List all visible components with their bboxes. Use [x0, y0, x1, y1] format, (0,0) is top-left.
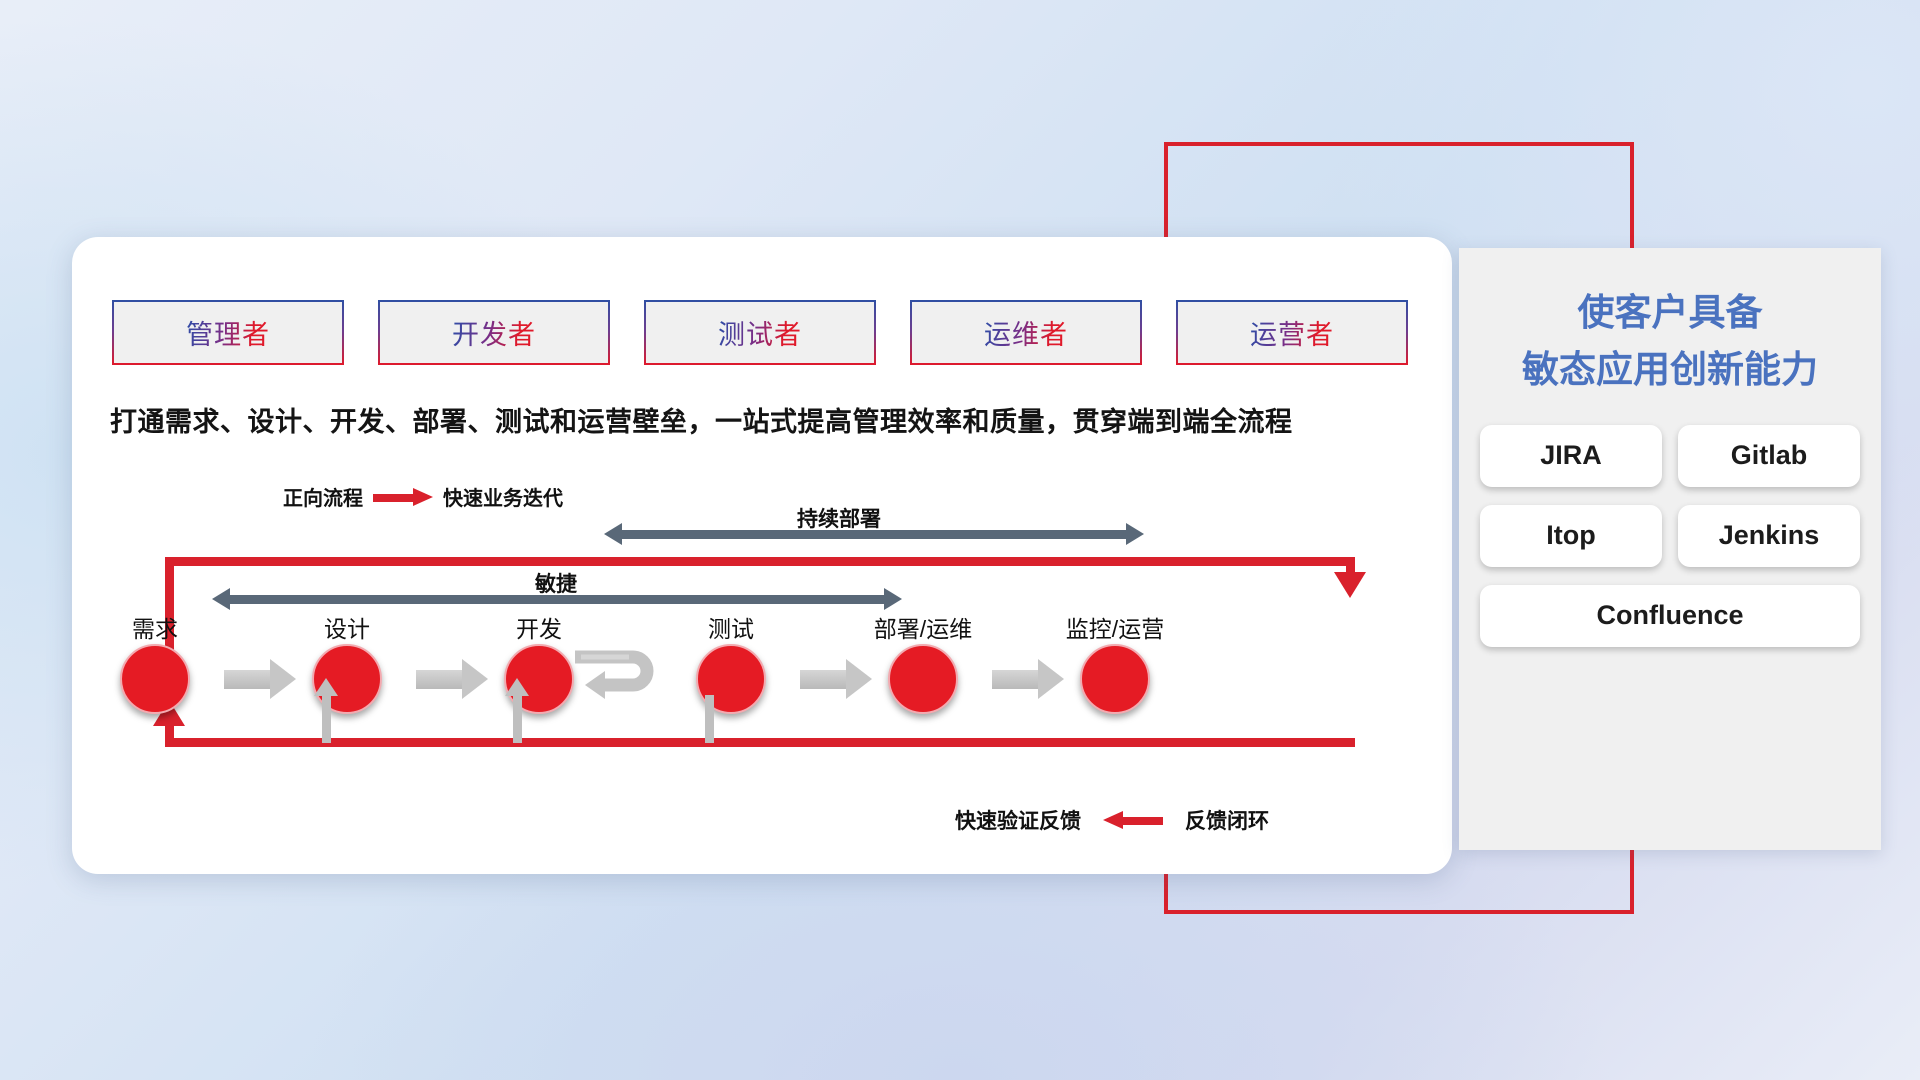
role-box-developer[interactable]: 开发者 [378, 300, 610, 365]
gray-arrow-3-icon [800, 659, 872, 699]
red-loop-top [165, 557, 1355, 566]
role-label: 运维者 [984, 313, 1068, 352]
slide-canvas: 管理者 开发者 测试者 运维者 运营者 打通需求、设计、开发、部署、测试和运营壁… [0, 0, 1920, 1080]
role-label: 开发者 [452, 313, 536, 352]
gray-stem-test [705, 695, 714, 743]
stage-label: 测试 [708, 610, 754, 644]
double-arrow-continuous-deployment-icon [604, 523, 1144, 545]
red-loop-bottom [165, 738, 1355, 747]
role-label: 测试者 [718, 313, 802, 352]
gray-arrow-1-icon [224, 659, 296, 699]
stage-dot-icon [888, 644, 958, 714]
role-box-ops[interactable]: 运维者 [910, 300, 1142, 365]
stage-label: 监控/运营 [1066, 610, 1164, 644]
right-panel-title-line1: 使客户具备 [1459, 284, 1881, 341]
role-box-tester[interactable]: 测试者 [644, 300, 876, 365]
role-label: 运营者 [1250, 313, 1334, 352]
tool-chip-jira[interactable]: JIRA [1480, 425, 1662, 487]
stage-dot-icon [120, 644, 190, 714]
legend-feedback-label: 反馈闭环 [1185, 805, 1269, 835]
tool-chip-itop[interactable]: Itop [1480, 505, 1662, 567]
role-box-operation[interactable]: 运营者 [1176, 300, 1408, 365]
tool-chip-gitlab[interactable]: Gitlab [1678, 425, 1860, 487]
pipeline: 需求 设计 开发 测试 部署/运维 [112, 610, 1402, 720]
gray-stem-head-design-icon [314, 678, 338, 696]
gray-stem-design [322, 695, 331, 743]
legend-forward-label: 正向流程 [283, 482, 363, 511]
role-box-manager[interactable]: 管理者 [112, 300, 344, 365]
right-panel: 使客户具备 敏态应用创新能力 JIRA Gitlab Itop Jenkins … [1459, 248, 1881, 850]
outer-bracket-bottom [1164, 910, 1634, 914]
legend-forward-result: 快速业务迭代 [443, 482, 563, 511]
outer-bracket-top [1164, 142, 1634, 146]
role-label: 管理者 [186, 313, 270, 352]
right-panel-title-line2: 敏态应用创新能力 [1459, 341, 1881, 398]
red-arrow-right-icon [373, 491, 433, 503]
right-panel-title: 使客户具备 敏态应用创新能力 [1459, 284, 1881, 399]
gray-arrow-4-icon [992, 659, 1064, 699]
legend-feedback-loop: 快速验证反馈 反馈闭环 [955, 805, 1269, 835]
red-loop-arrow-down-icon [1334, 572, 1366, 598]
legend-forward-flow: 正向流程 快速业务迭代 [283, 482, 563, 511]
tool-chip-confluence[interactable]: Confluence [1480, 585, 1860, 647]
tool-chip-list: JIRA Gitlab Itop Jenkins Confluence [1473, 425, 1867, 647]
stage-dot-icon [1080, 644, 1150, 714]
stage-label: 需求 [132, 610, 178, 644]
iteration-loop-icon [571, 645, 667, 705]
gray-stem-head-development-icon [505, 678, 529, 696]
headline-text: 打通需求、设计、开发、部署、测试和运营壁垒，一站式提高管理效率和质量，贯穿端到端… [110, 400, 1420, 439]
stage-label: 部署/运维 [874, 610, 972, 644]
gray-stem-development [513, 695, 522, 743]
stage-label: 设计 [324, 610, 370, 644]
stage-label: 开发 [516, 610, 562, 644]
tool-chip-jenkins[interactable]: Jenkins [1678, 505, 1860, 567]
gray-arrow-2-icon [416, 659, 488, 699]
double-arrow-agile-icon [212, 588, 902, 610]
role-box-row: 管理者 开发者 测试者 运维者 运营者 [112, 300, 1408, 365]
legend-feedback-result: 快速验证反馈 [955, 805, 1081, 835]
red-arrow-left-icon [1103, 814, 1163, 826]
